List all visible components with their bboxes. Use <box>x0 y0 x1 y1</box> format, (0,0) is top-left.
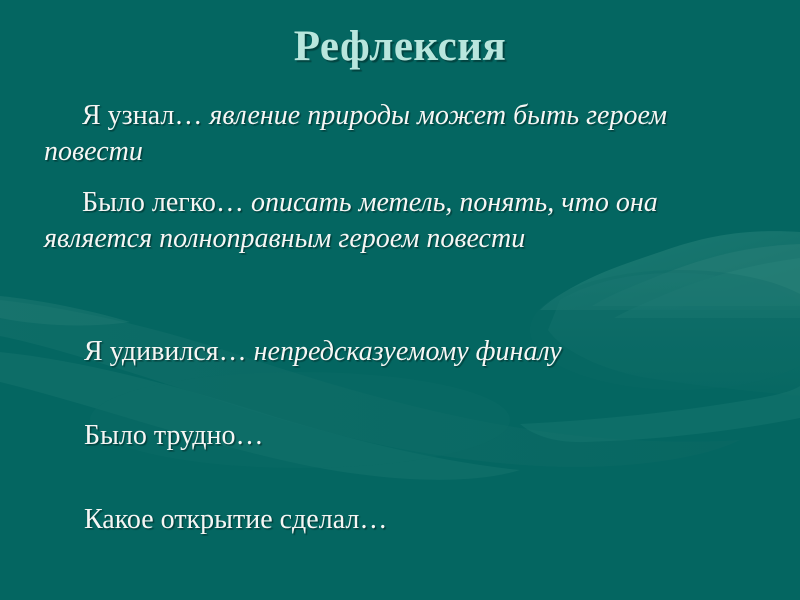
reflection-item-bylo-legko: Было легко… описать метель, понять, что … <box>44 185 760 258</box>
reflection-prompt-ya-uznal: Я узнал… <box>82 100 209 131</box>
slide-canvas: Рефлексия Я узнал… явление природы может… <box>0 0 800 600</box>
spacer-a <box>44 272 760 334</box>
reflection-item-ya-uznal: Я узнал… явление природы может быть геро… <box>44 98 760 171</box>
reflection-prompt-bylo-trudno: Было трудно… <box>84 420 264 451</box>
reflection-item-kakoe-otkrytie: Какое открытие сделал… <box>44 502 760 538</box>
page-title: Рефлексия <box>0 22 800 71</box>
reflection-prompt-kakoe-otkrytie: Какое открытие сделал… <box>84 504 387 535</box>
reflection-item-ya-udivilsya: Я удивился… непредсказуемому финалу <box>44 334 760 370</box>
reflection-prompt-bylo-legko: Было легко… <box>82 187 251 218</box>
reflection-answer-ya-udivilsya: непредсказуемому финалу <box>254 336 562 367</box>
reflection-prompt-ya-udivilsya: Я удивился… <box>84 336 254 367</box>
slide-body: Я узнал… явление природы может быть геро… <box>44 98 760 539</box>
spacer-c <box>44 454 760 502</box>
spacer-b <box>44 370 760 418</box>
reflection-item-bylo-trudno: Было трудно… <box>44 418 760 454</box>
